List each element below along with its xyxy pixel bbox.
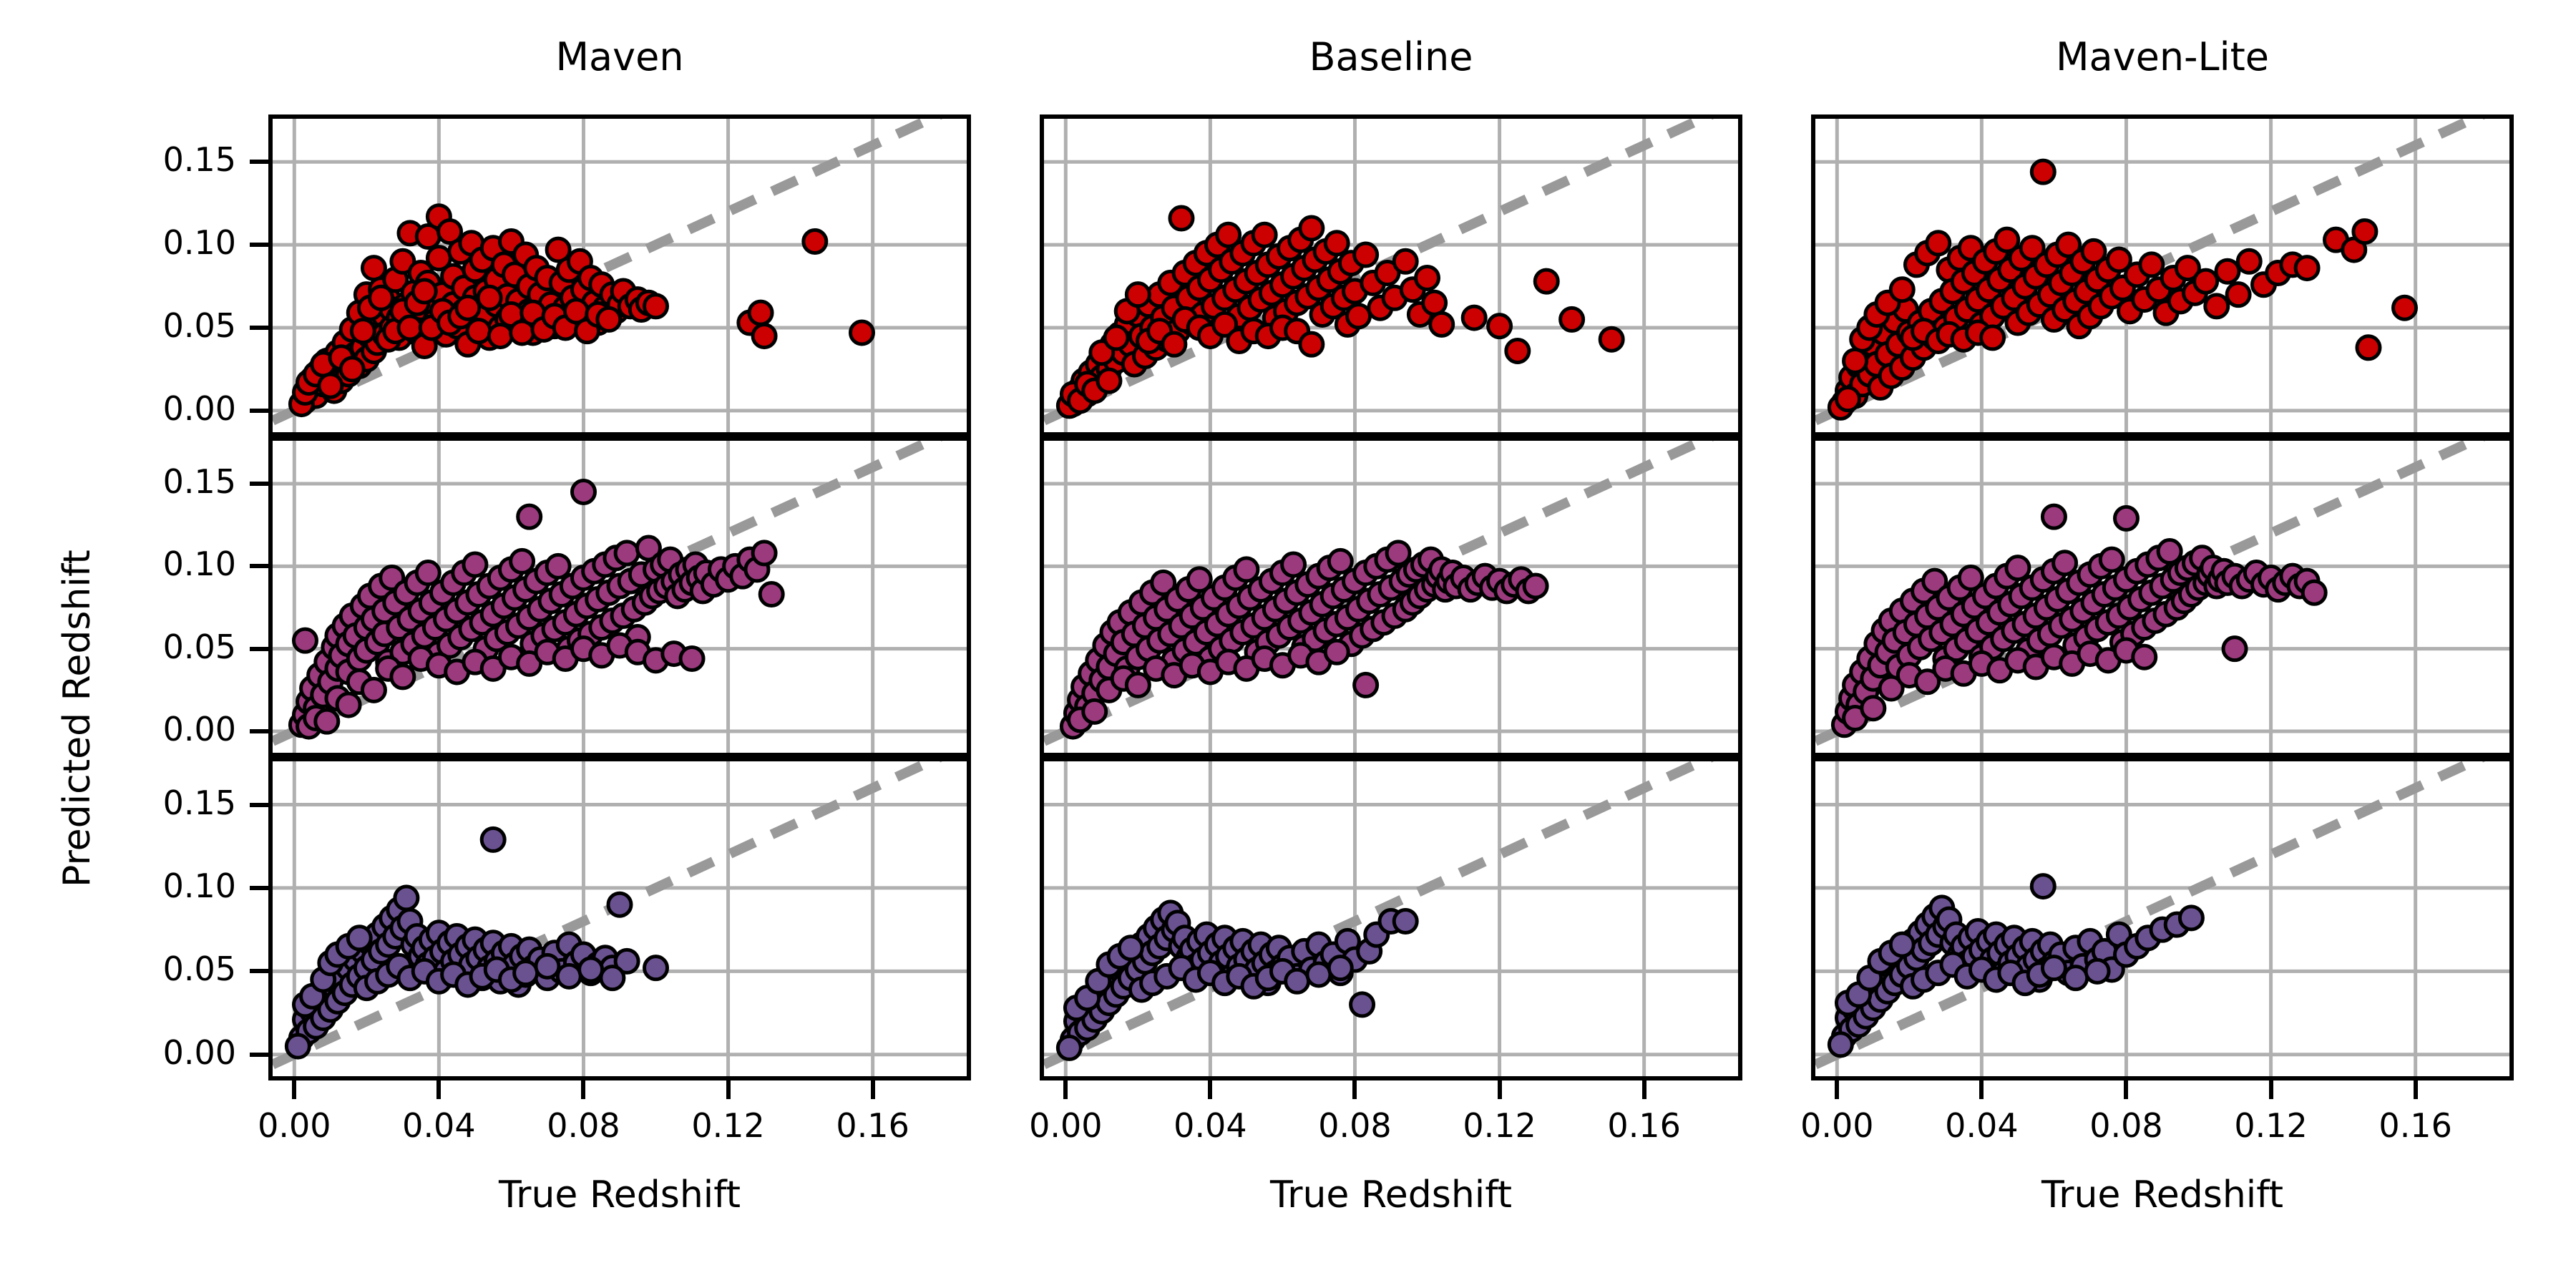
scatter-points	[1829, 875, 2202, 1056]
x-tick-mark	[1835, 1080, 1839, 1099]
scatter-points	[1061, 542, 1547, 738]
y-tick-label: 0.05	[93, 628, 236, 666]
scatter-panel-maven-lite-row2[interactable]	[1811, 757, 2514, 1080]
x-tick-label: 0.16	[787, 1106, 959, 1145]
scatter-panel-maven-row1[interactable]	[268, 436, 971, 757]
y-tick-mark	[250, 482, 268, 486]
scatter-points	[286, 828, 667, 1058]
scatter-panel-maven-row0[interactable]	[268, 114, 971, 436]
column-title-maven-lite: Maven-Lite	[1811, 34, 2514, 79]
x-tick-mark	[2269, 1080, 2273, 1099]
scatter-panel-maven-lite-row0[interactable]	[1811, 114, 2514, 436]
x-axis-title-col2: True Redshift	[1040, 1174, 1742, 1216]
scatter-panel-baseline-row1[interactable]	[1040, 436, 1742, 757]
x-tick-mark	[2124, 1080, 2128, 1099]
y-tick-label: 0.15	[93, 784, 236, 822]
x-tick-mark	[292, 1080, 296, 1099]
y-tick-mark	[250, 803, 268, 807]
y-tick-mark	[250, 243, 268, 247]
y-tick-label: 0.05	[93, 306, 236, 345]
x-tick-mark	[1642, 1080, 1646, 1099]
scatter-panel-baseline-row2[interactable]	[1040, 757, 1742, 1080]
y-axis-title: Predicted Redshift	[56, 550, 99, 887]
x-tick-mark	[1498, 1080, 1502, 1099]
scatter-points	[290, 205, 873, 416]
scatter-panel-baseline-row0[interactable]	[1040, 114, 1742, 436]
y-tick-mark	[250, 729, 268, 733]
y-tick-mark	[250, 969, 268, 973]
y-tick-mark	[250, 160, 268, 164]
scatter-panel-maven-lite-row1[interactable]	[1811, 436, 2514, 757]
x-tick-mark	[1352, 1080, 1357, 1099]
x-tick-mark	[2414, 1080, 2418, 1099]
y-tick-mark	[250, 409, 268, 413]
y-tick-mark	[250, 1053, 268, 1057]
y-tick-mark	[250, 647, 268, 651]
y-tick-label: 0.10	[93, 223, 236, 262]
scatter-points	[1058, 902, 1417, 1060]
scatter-panel-maven-row2[interactable]	[268, 757, 971, 1080]
y-tick-label: 0.15	[93, 140, 236, 179]
x-tick-mark	[871, 1080, 875, 1099]
column-title-baseline: Baseline	[1040, 34, 1742, 79]
scatter-points	[1829, 160, 2416, 419]
x-tick-label: 0.16	[2330, 1106, 2502, 1145]
y-tick-label: 0.10	[93, 867, 236, 905]
x-tick-mark	[436, 1080, 441, 1099]
x-axis-title-col1: True Redshift	[268, 1174, 971, 1216]
scatter-points	[1058, 207, 1623, 417]
x-tick-mark	[726, 1080, 731, 1099]
identity-line	[1815, 761, 2509, 1065]
y-tick-mark	[250, 326, 268, 330]
x-tick-mark	[1063, 1080, 1068, 1099]
column-title-maven: Maven	[268, 34, 971, 79]
x-tick-mark	[1208, 1080, 1212, 1099]
y-tick-label: 0.10	[93, 545, 236, 583]
y-tick-label: 0.05	[93, 950, 236, 988]
y-tick-label: 0.15	[93, 462, 236, 501]
y-tick-label: 0.00	[93, 389, 236, 428]
x-tick-label: 0.16	[1558, 1106, 1730, 1145]
x-tick-mark	[581, 1080, 585, 1099]
figure-canvas: Maven Baseline Maven-Lite Predicted Reds…	[0, 0, 2576, 1288]
x-tick-mark	[1979, 1080, 1984, 1099]
y-tick-label: 0.00	[93, 710, 236, 748]
y-tick-mark	[250, 886, 268, 890]
y-tick-label: 0.00	[93, 1033, 236, 1072]
x-axis-title-col3: True Redshift	[1811, 1174, 2514, 1216]
y-tick-mark	[250, 564, 268, 568]
